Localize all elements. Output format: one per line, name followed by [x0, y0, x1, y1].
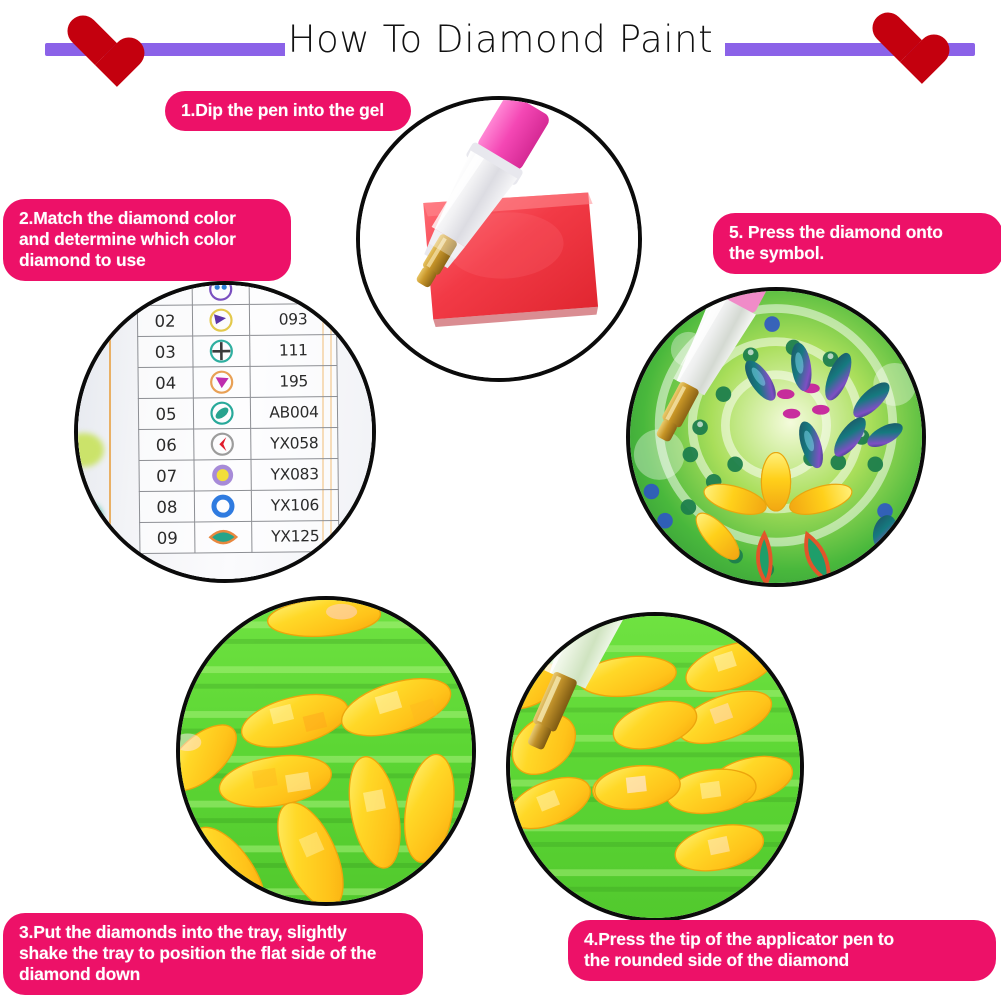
step-5-label-line-2: the symbol. — [729, 243, 987, 264]
page-title: How To Diamond Paint — [0, 18, 1001, 61]
legend-row-2-symbol — [193, 335, 250, 367]
table-row: 04 195 — [138, 365, 337, 398]
mandala-canvas-illustration — [630, 291, 922, 583]
legend-row-5-code: YX058 — [251, 427, 338, 459]
infographic-canvas: How To Diamond Paint 1.Dip the pen into … — [0, 0, 1001, 1001]
pen-picks-diamond-illustration — [510, 616, 800, 918]
step-4-label: 4.Press the tip of the applicator pen to… — [568, 920, 996, 981]
diamonds-in-tray-illustration — [180, 600, 472, 902]
step-2-label: 2.Match the diamond color and determine … — [3, 199, 291, 281]
table-row: 028 — [137, 281, 336, 306]
arrow-left-red-icon — [209, 431, 235, 457]
legend-row-2-code: 111 — [250, 334, 337, 366]
pen-into-gel-illustration — [360, 100, 638, 378]
legend-row-4-number: 05 — [138, 398, 193, 430]
gem-facet-highlight — [626, 776, 647, 794]
step-4-label-line-2: the rounded side of the diamond — [584, 950, 980, 971]
legend-row-8-symbol — [195, 521, 252, 553]
ring-blue-icon — [210, 493, 236, 519]
step-3-label: 3.Put the diamonds into the tray, slight… — [3, 913, 423, 995]
step-1-label: 1.Dip the pen into the gel — [165, 91, 411, 131]
legend-row-0-code: 028 — [249, 281, 336, 304]
table-row: 07 YX083 — [139, 458, 338, 491]
legend-row-6-symbol — [194, 459, 251, 491]
legend-row-4-code: AB004 — [250, 396, 337, 428]
triangle-purple-icon — [208, 307, 234, 333]
step-3-label-line-3: diamond down — [19, 964, 407, 985]
photo-pen-picks-diamond — [506, 612, 804, 922]
legend-row-2-number: 03 — [138, 336, 193, 368]
legend-row-5-symbol — [194, 428, 251, 460]
step-5-label-line-1: 5. Press the diamond onto — [729, 222, 987, 243]
step-2-label-line-3: diamond to use — [19, 250, 275, 271]
oval-teal-icon — [209, 400, 235, 426]
legend-table-body: 028 02 093 03 — [137, 281, 339, 554]
table-row: 09 YX125 — [140, 520, 339, 553]
leaf-teal-icon — [208, 524, 238, 550]
step-2-label-line-2: and determine which color — [19, 229, 275, 250]
photo-diamonds-in-tray — [176, 596, 476, 906]
legend-row-7-number: 08 — [139, 491, 194, 523]
legend-row-4-symbol — [193, 397, 250, 429]
legend-row-3-number: 04 — [138, 367, 193, 399]
table-row: 06 YX058 — [139, 427, 338, 460]
step-5-label: 5. Press the diamond onto the symbol. — [713, 213, 1001, 274]
photo-press-onto-symbol — [626, 287, 926, 587]
legend-row-0-number — [137, 281, 192, 306]
legend-row-0-symbol — [192, 281, 249, 305]
legend-row-1-code: 093 — [249, 303, 336, 335]
table-row: 05 AB004 — [138, 396, 337, 429]
cross-plus-icon — [208, 338, 234, 364]
legend-row-1-symbol — [192, 304, 249, 336]
table-row: 08 YX106 — [139, 489, 338, 522]
triangle-magenta-icon — [209, 369, 235, 395]
face-blue-icon — [208, 281, 234, 302]
legend-row-1-number: 02 — [137, 305, 192, 337]
step-4-label-line-1: 4.Press the tip of the applicator pen to — [584, 929, 980, 950]
gem-at-pen-tip — [761, 453, 790, 511]
table-row: 03 111 — [138, 334, 337, 367]
legend-row-8-code: YX125 — [252, 520, 339, 552]
legend-chart-surface: 028 02 093 03 — [78, 285, 372, 579]
legend-row-6-code: YX083 — [251, 458, 338, 490]
legend-row-7-symbol — [194, 490, 251, 522]
dot-yellow-icon — [210, 462, 236, 488]
legend-row-3-code: 195 — [250, 365, 337, 397]
step-3-label-line-1: 3.Put the diamonds into the tray, slight… — [19, 922, 407, 943]
legend-row-3-symbol — [193, 366, 250, 398]
legend-table: 028 02 093 03 — [137, 281, 340, 554]
legend-row-7-code: YX106 — [251, 489, 338, 521]
legend-row-6-number: 07 — [139, 460, 194, 492]
photo-color-chart: 028 02 093 03 — [74, 281, 376, 583]
legend-margin-line-left — [109, 285, 111, 579]
step-3-label-line-2: shake the tray to position the flat side… — [19, 943, 407, 964]
photo-pen-into-gel — [356, 96, 642, 382]
table-row: 02 093 — [137, 303, 336, 336]
legend-row-5-number: 06 — [139, 429, 194, 461]
step-2-label-line-1: 2.Match the diamond color — [19, 208, 275, 229]
legend-row-8-number: 09 — [140, 522, 195, 554]
